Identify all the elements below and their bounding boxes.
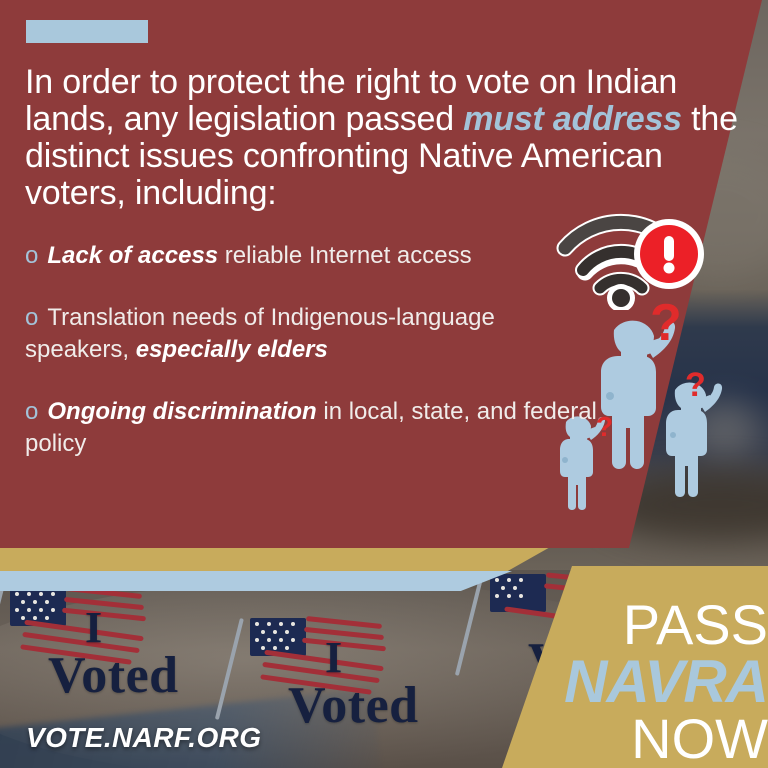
- cta-line-navra: NAVRA: [560, 653, 768, 710]
- list-item: oLack of access reliable Internet access: [25, 240, 605, 272]
- sticker-text-voted: Voted: [288, 676, 419, 735]
- sticker-text-voted: Voted: [48, 646, 179, 705]
- list-item: oTranslation needs of Indigenous-languag…: [25, 302, 605, 366]
- flag-canton: [250, 618, 306, 656]
- top-accent-bar: [26, 20, 148, 43]
- website-url[interactable]: VOTE.NARF.ORG: [26, 722, 261, 754]
- bullet-list: oLack of access reliable Internet access…: [25, 240, 605, 490]
- bullet-marker: o: [25, 398, 38, 425]
- headline-text: In order to protect the right to vote on…: [25, 64, 740, 212]
- bullet-marker: o: [25, 304, 38, 331]
- bullet-bold-lead: Lack of access: [47, 242, 218, 269]
- poster-canvas: I Voted I Voted: [0, 0, 768, 768]
- cta-line-pass: PASS: [560, 598, 768, 651]
- list-item: oOngoing discrimination in local, state,…: [25, 396, 605, 460]
- question-mark-icon: ?: [650, 300, 682, 352]
- headline-emphasis: must address: [463, 100, 682, 138]
- bullet-bold-trail: especially elders: [136, 336, 328, 363]
- flag-canton: [490, 574, 546, 612]
- cta-line-now: NOW: [560, 712, 768, 765]
- bullet-rest: reliable Internet access: [218, 242, 471, 269]
- bullet-marker: o: [25, 242, 38, 269]
- flag-pole: [0, 588, 4, 690]
- bullet-bold-lead: Ongoing discrimination: [47, 398, 316, 425]
- blue-divider-band: [0, 571, 512, 591]
- gold-divider-band: [0, 546, 552, 571]
- flag-canton: [10, 588, 66, 626]
- question-mark-icon: ?: [685, 366, 706, 404]
- call-to-action: PASS NAVRA NOW: [560, 598, 768, 765]
